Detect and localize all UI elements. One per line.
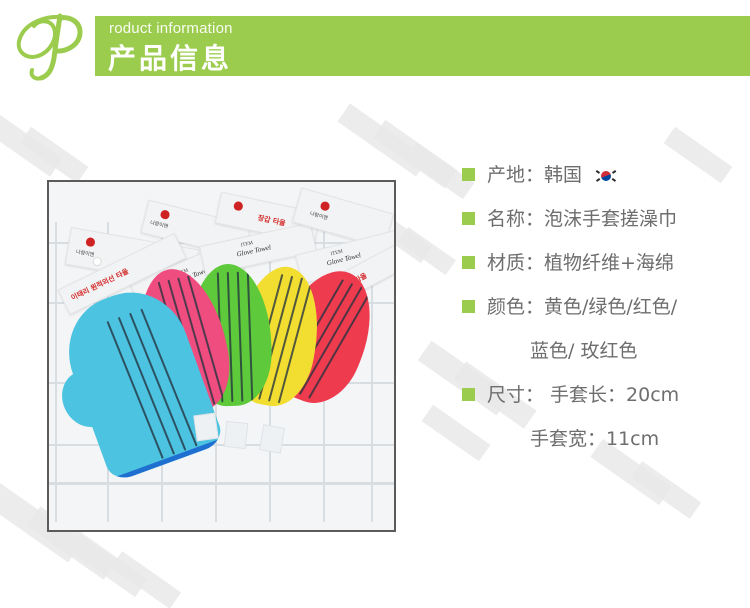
spec-row-origin: 产地：韩国 [462,160,750,204]
spec-label: 手套宽：11cm [530,424,659,454]
bullet-square [462,388,475,401]
product-information-page: roduct information 产品信息 [0,0,750,608]
spec-row-product-name: 名称：泡沫手套搓澡巾 [462,204,750,248]
spec-label: 名称：泡沫手套搓澡巾 [487,204,677,234]
spec-origin-text: 产地：韩国 [487,164,582,186]
spec-label: 颜色：黄色/绿色/红色/ [487,292,677,322]
spec-row-color: 颜色：黄色/绿色/红色/ [462,292,750,336]
spec-label: 材质：植物纤维+海绵 [487,248,674,278]
script-p-logo [8,8,92,84]
spec-label: 蓝色/ 玫红色 [530,336,637,366]
product-photo-image: 나랑이앤 ITEM Glove Towel 나랑이앤 장갑 타올 ITEM Gl… [49,182,394,530]
bullet-square [462,256,475,269]
spec-row-size-continued: 手套宽：11cm [462,424,750,468]
header-banner: roduct information 产品信息 [95,16,750,76]
spec-label: 产地：韩国 [487,160,616,190]
spec-label: 尺寸： 手套长：20cm [487,380,679,410]
product-photo: 나랑이앤 ITEM Glove Towel 나랑이앤 장갑 타올 ITEM Gl… [47,180,396,532]
blue-glove [63,292,211,468]
bullet-square [462,168,475,181]
spec-row-material: 材质：植物纤维+海绵 [462,248,750,292]
bullet-square [462,300,475,313]
price-tag [224,421,249,449]
spec-row-size: 尺寸： 手套长：20cm [462,380,750,424]
header-english-title: roduct information [109,20,233,37]
spec-row-color-continued: 蓝色/ 玫红色 [462,336,750,380]
bullet-square [462,212,475,225]
price-tag [193,413,218,442]
page-header: roduct information 产品信息 [0,0,750,92]
spec-list: 产地：韩国 名称：泡沫手套搓澡巾 材质：植物纤维+海绵 颜色：黄色/绿色/红色/ [462,160,750,468]
header-chinese-title: 产品信息 [108,37,232,77]
price-tag [259,424,285,453]
south-korea-flag-icon [596,169,616,183]
